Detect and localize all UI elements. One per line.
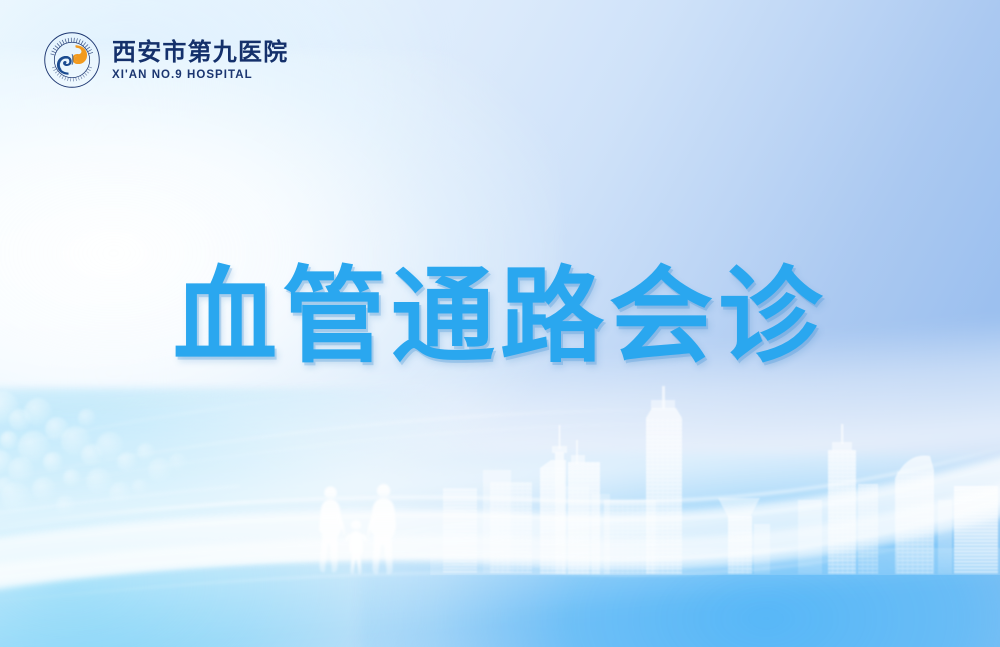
hospital-circular-emblem-icon xyxy=(43,31,101,89)
title-slide: 西安市第九医院 XI'AN NO.9 HOSPITAL 血管通路会诊 xyxy=(0,0,1000,647)
hospital-name-en: XI'AN NO.9 HOSPITAL xyxy=(112,70,288,82)
title-container: 血管通路会诊 xyxy=(0,262,1000,372)
hospital-name-cn: 西安市第九医院 xyxy=(112,41,288,65)
hospital-logo: 西安市第九医院 XI'AN NO.9 HOSPITAL xyxy=(43,31,288,89)
page-title: 血管通路会诊 xyxy=(173,262,827,372)
hospital-name-block: 西安市第九医院 XI'AN NO.9 HOSPITAL xyxy=(112,39,288,82)
